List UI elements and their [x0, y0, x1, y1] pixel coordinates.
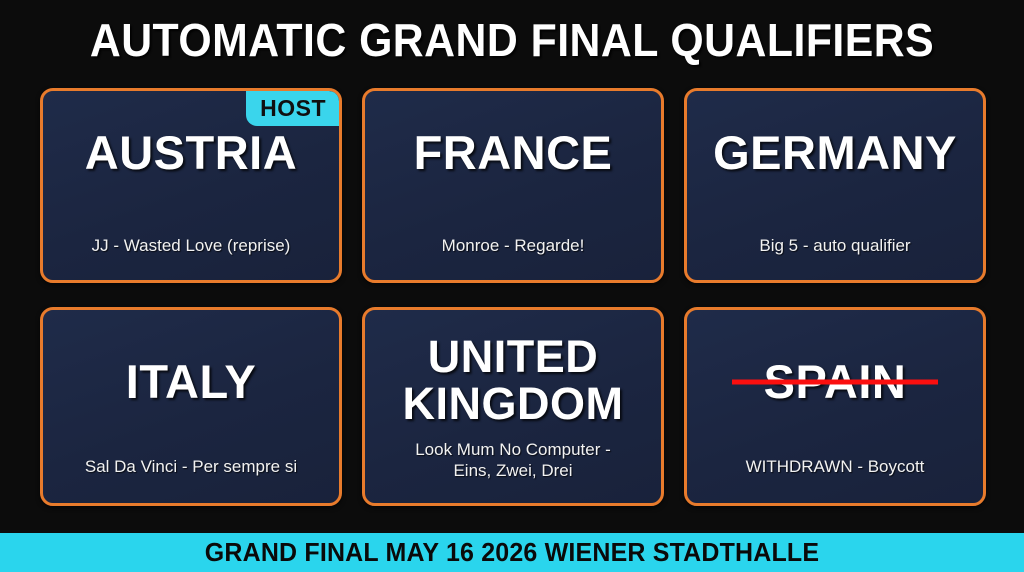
country-subtitle: Monroe - Regarde!	[442, 235, 585, 256]
withdrawn-name-wrapper: SPAIN	[764, 358, 907, 405]
host-badge: HOST	[246, 91, 339, 126]
country-name: ITALY	[126, 358, 256, 405]
card-content: ITALY Sal Da Vinci - Per sempre si	[43, 310, 339, 503]
country-subtitle: Big 5 - auto qualifier	[759, 235, 910, 256]
country-card-germany[interactable]: GERMANY Big 5 - auto qualifier	[684, 88, 986, 283]
footer-text: GRAND FINAL MAY 16 2026 WIENER STADTHALL…	[205, 537, 819, 568]
card-content: UNITED KINGDOM Look Mum No Computer - Ei…	[365, 310, 661, 503]
card-content: FRANCE Monroe - Regarde!	[365, 91, 661, 280]
qualifiers-card-grid: HOST AUSTRIA JJ - Wasted Love (reprise) …	[40, 88, 986, 506]
page-title: AUTOMATIC GRAND FINAL QUALIFIERS	[36, 0, 988, 80]
country-card-italy[interactable]: ITALY Sal Da Vinci - Per sempre si	[40, 307, 342, 506]
country-card-spain[interactable]: SPAIN WITHDRAWN - Boycott	[684, 307, 986, 506]
card-content: GERMANY Big 5 - auto qualifier	[687, 91, 983, 280]
country-subtitle: JJ - Wasted Love (reprise)	[92, 235, 291, 256]
country-card-austria[interactable]: HOST AUSTRIA JJ - Wasted Love (reprise)	[40, 88, 342, 283]
country-name: SPAIN	[764, 358, 907, 405]
country-subtitle: WITHDRAWN - Boycott	[746, 456, 925, 477]
country-name: FRANCE	[414, 129, 613, 176]
country-name: GERMANY	[713, 129, 957, 176]
card-content: SPAIN WITHDRAWN - Boycott	[687, 310, 983, 503]
country-subtitle: Look Mum No Computer - Eins, Zwei, Drei	[415, 439, 611, 482]
country-card-united-kingdom[interactable]: UNITED KINGDOM Look Mum No Computer - Ei…	[362, 307, 664, 506]
country-subtitle: Sal Da Vinci - Per sempre si	[85, 456, 297, 477]
country-card-france[interactable]: FRANCE Monroe - Regarde!	[362, 88, 664, 283]
country-name: AUSTRIA	[85, 129, 297, 176]
country-name: UNITED KINGDOM	[403, 334, 624, 428]
footer-banner: GRAND FINAL MAY 16 2026 WIENER STADTHALL…	[0, 533, 1024, 572]
